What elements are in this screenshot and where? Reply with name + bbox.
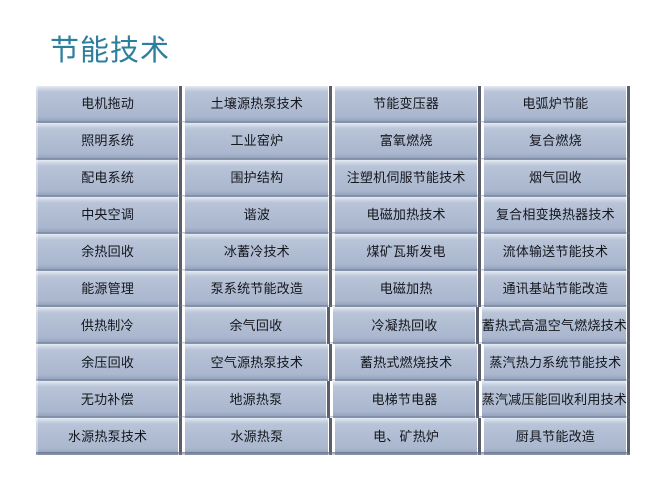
matrix-cell-label: 谐波 [244,207,270,223]
matrix-cell[interactable]: 配电系统 [36,160,182,197]
matrix-cell[interactable]: 电梯节电器 [333,381,479,418]
matrix-cell[interactable]: 电机拖动 [36,86,182,123]
matrix-cell[interactable]: 工业窑炉 [185,123,331,160]
matrix-cell-label: 余压回收 [81,355,134,371]
matrix-cell[interactable]: 照明系统 [36,123,182,160]
matrix-cell-label: 水源热泵 [230,429,283,445]
matrix-cell-label: 余气回收 [229,318,282,334]
matrix-cell[interactable]: 富氧燃烧 [335,123,481,160]
matrix-cell-label: 余热回收 [81,244,134,260]
matrix-cell[interactable]: 余压回收 [36,344,182,381]
matrix-cell[interactable]: 供热制冷 [36,307,182,344]
matrix-cell-label: 电磁加热 [380,281,433,297]
matrix-cell-label: 土壤源热泵技术 [211,96,303,112]
matrix-cell[interactable]: 冷凝热回收 [333,307,479,344]
matrix-cell-label: 烟气回收 [529,170,582,186]
matrix-cell[interactable]: 流体输送节能技术 [484,234,630,271]
matrix-cell[interactable]: 围护结构 [185,160,331,197]
matrix-cell-label: 电弧炉节能 [522,96,588,112]
matrix-cell-label: 通讯基站节能改造 [503,281,609,297]
matrix-cell-label: 电磁加热技术 [367,207,446,223]
matrix-cell[interactable]: 复合相变换热器技术 [484,197,630,234]
matrix-row: 照明系统工业窑炉富氧燃烧复合燃烧 [36,123,630,160]
matrix-cell-label: 流体输送节能技术 [503,244,609,260]
matrix-cell-label: 能源管理 [81,281,134,297]
matrix-cell[interactable]: 节能变压器 [335,86,481,123]
matrix-cell[interactable]: 电弧炉节能 [484,86,630,123]
matrix-cell-label: 蒸汽热力系统节能技术 [489,355,621,371]
matrix-cell-label: 电机拖动 [81,96,134,112]
matrix-cell-label: 蓄热式高温空气燃烧技术 [482,318,627,334]
matrix-row: 电机拖动土壤源热泵技术节能变压器电弧炉节能 [36,86,630,123]
matrix-cell[interactable]: 蓄热式燃烧技术 [335,344,481,381]
matrix-cell-label: 节能变压器 [373,96,439,112]
page-title: 节能技术 [50,31,170,71]
matrix-cell-label: 配电系统 [81,170,134,186]
matrix-cell[interactable]: 蒸汽热力系统节能技术 [484,344,630,381]
matrix-cell-label: 地源热泵 [229,392,282,408]
matrix-cell[interactable]: 水源热泵 [185,418,331,455]
matrix-cell-label: 工业窑炉 [230,133,283,149]
matrix-cell[interactable]: 通讯基站节能改造 [484,271,630,308]
matrix-cell-label: 电、矿热炉 [373,429,439,445]
matrix-cell[interactable]: 厨具节能改造 [484,418,630,455]
matrix-cell-label: 厨具节能改造 [516,429,595,445]
matrix-cell-label: 围护结构 [230,170,283,186]
matrix-cell[interactable]: 地源热泵 [185,381,331,418]
matrix-cell[interactable]: 蓄热式高温空气燃烧技术 [482,307,630,344]
matrix-cell-label: 空气源热泵技术 [211,355,303,371]
matrix-cell[interactable]: 电磁加热技术 [335,197,481,234]
matrix-row: 能源管理泵系统节能改造电磁加热通讯基站节能改造 [36,271,630,308]
matrix-cell[interactable]: 电磁加热 [335,271,481,308]
matrix-cell[interactable]: 蒸汽减压能回收利用技术 [482,381,630,418]
matrix-cell[interactable]: 冰蓄冷技术 [185,234,331,271]
matrix-cell-label: 富氧燃烧 [380,133,433,149]
matrix-cell-label: 水源热泵技术 [68,429,147,445]
matrix-cell-label: 泵系统节能改造 [211,281,303,297]
slide-canvas: 节能技术 电机拖动土壤源热泵技术节能变压器电弧炉节能照明系统工业窑炉富氧燃烧复合… [0,0,664,498]
matrix-cell[interactable]: 电、矿热炉 [335,418,481,455]
matrix-cell-label: 供热制冷 [81,318,134,334]
matrix-cell-label: 注塑机伺服节能技术 [347,170,466,186]
matrix-cell[interactable]: 复合燃烧 [484,123,630,160]
matrix-row: 水源热泵技术水源热泵电、矿热炉厨具节能改造 [36,418,630,455]
matrix-row: 供热制冷余气回收冷凝热回收蓄热式高温空气燃烧技术 [36,307,630,344]
technology-matrix: 电机拖动土壤源热泵技术节能变压器电弧炉节能照明系统工业窑炉富氧燃烧复合燃烧配电系… [36,86,630,455]
matrix-cell[interactable]: 泵系统节能改造 [185,271,331,308]
matrix-cell-label: 复合相变换热器技术 [496,207,615,223]
matrix-cell[interactable]: 中央空调 [36,197,182,234]
matrix-cell[interactable]: 土壤源热泵技术 [185,86,331,123]
matrix-cell[interactable]: 烟气回收 [484,160,630,197]
matrix-cell-label: 电梯节电器 [371,392,437,408]
matrix-cell[interactable]: 无功补偿 [36,381,182,418]
matrix-cell[interactable]: 谐波 [185,197,331,234]
matrix-cell-label: 冰蓄冷技术 [224,244,290,260]
matrix-row: 余压回收空气源热泵技术蓄热式燃烧技术蒸汽热力系统节能技术 [36,344,630,381]
matrix-cell-label: 蓄热式燃烧技术 [360,355,452,371]
matrix-cell[interactable]: 余气回收 [185,307,331,344]
matrix-row: 无功补偿地源热泵电梯节电器蒸汽减压能回收利用技术 [36,381,630,418]
matrix-cell[interactable]: 水源热泵技术 [36,418,182,455]
matrix-row: 中央空调谐波电磁加热技术复合相变换热器技术 [36,197,630,234]
matrix-cell[interactable]: 余热回收 [36,234,182,271]
matrix-cell[interactable]: 空气源热泵技术 [185,344,331,381]
matrix-cell-label: 中央空调 [81,207,134,223]
matrix-cell-label: 蒸汽减压能回收利用技术 [482,392,627,408]
matrix-cell-label: 冷凝热回收 [371,318,437,334]
matrix-cell[interactable]: 煤矿瓦斯发电 [335,234,481,271]
matrix-row: 余热回收冰蓄冷技术煤矿瓦斯发电流体输送节能技术 [36,234,630,271]
matrix-cell-label: 照明系统 [81,133,134,149]
matrix-row: 配电系统围护结构注塑机伺服节能技术烟气回收 [36,160,630,197]
matrix-cell-label: 无功补偿 [81,392,134,408]
matrix-cell[interactable]: 能源管理 [36,271,182,308]
matrix-cell-label: 复合燃烧 [529,133,582,149]
matrix-cell-label: 煤矿瓦斯发电 [367,244,446,260]
matrix-cell[interactable]: 注塑机伺服节能技术 [335,160,481,197]
